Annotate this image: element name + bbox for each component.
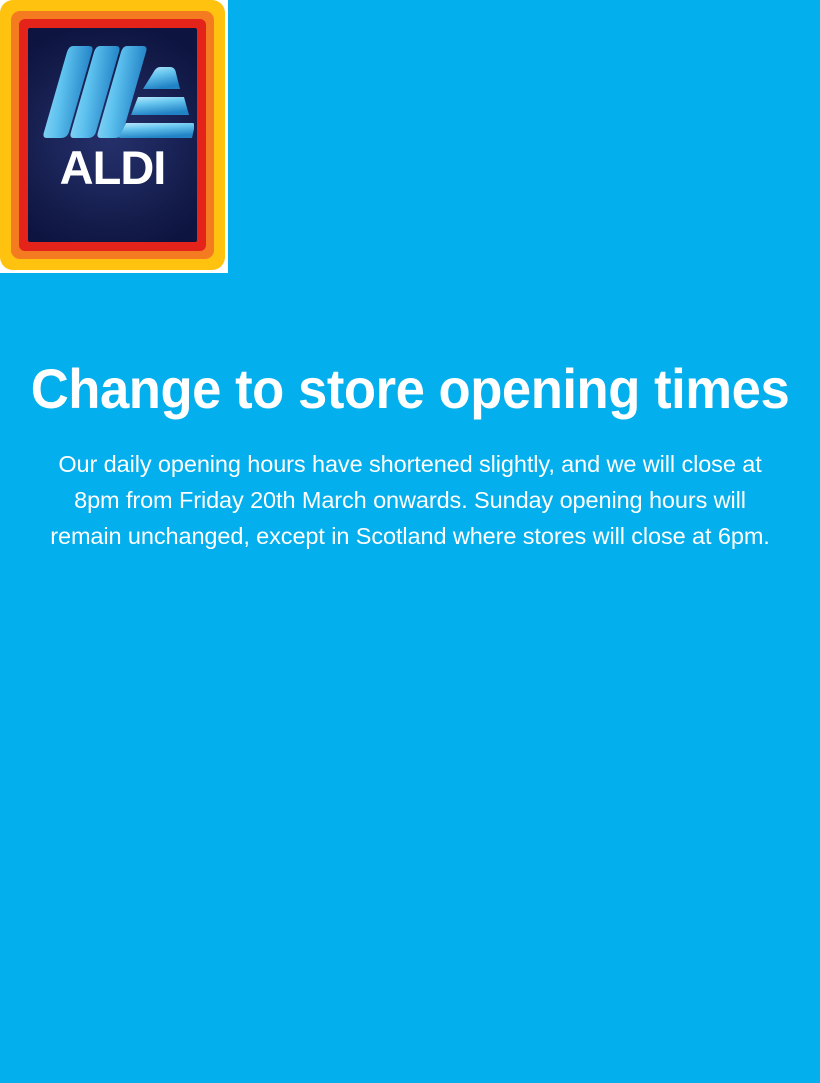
logo-panel: ALDI — [28, 28, 197, 242]
body-line: Our daily opening hours have shortened s… — [22, 446, 798, 482]
aldi-wordmark: ALDI — [28, 144, 197, 191]
announcement-poster: ALDI Change to store opening times Our d… — [0, 0, 820, 1083]
body-line: remain unchanged, except in Scotland whe… — [22, 518, 798, 554]
logo-inner-border: ALDI — [19, 19, 206, 251]
logo-outer-border: ALDI — [0, 0, 225, 270]
aldi-logo-icon — [42, 40, 194, 140]
page-title: Change to store opening times — [25, 356, 796, 422]
body-line: 8pm from Friday 20th March onwards. Sund… — [22, 482, 798, 518]
aldi-logo: ALDI — [0, 0, 228, 273]
logo-middle-border: ALDI — [11, 11, 214, 259]
announcement-body: Our daily opening hours have shortened s… — [22, 446, 798, 554]
